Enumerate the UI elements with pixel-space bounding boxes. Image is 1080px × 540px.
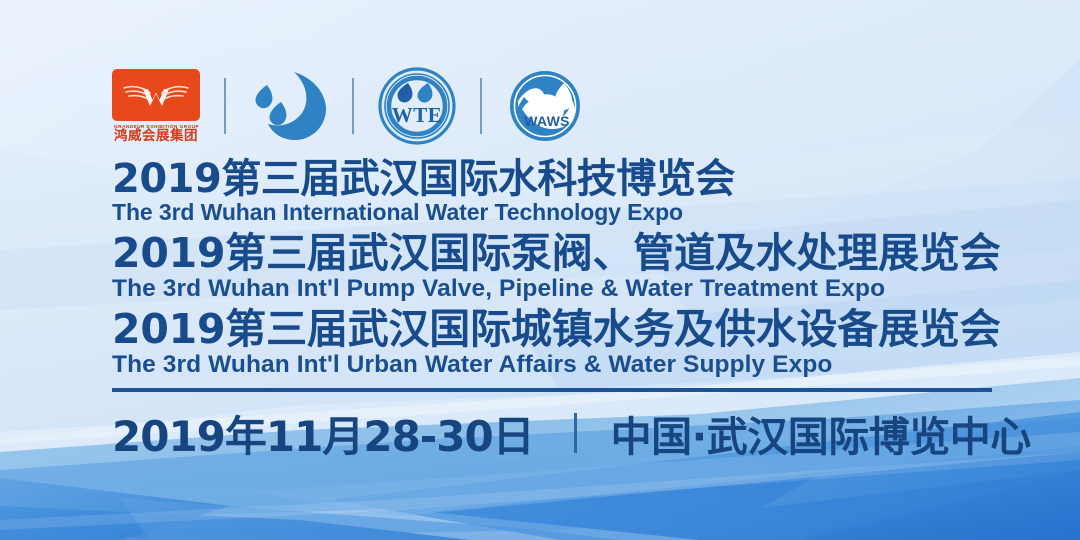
title-2-english: The 3rd Wuhan Int'l Pump Valve, Pipeline… — [112, 275, 992, 302]
wte-label: WTE — [392, 103, 443, 127]
title-group-pump-valve: 2019第三届武汉国际泵阀、管道及水处理展览会 The 3rd Wuhan In… — [112, 232, 992, 302]
w-wings-icon — [119, 75, 193, 115]
expo-banner: GRANDEUR EXHIBITION GROUP 鸿威会展集团 — [0, 0, 1080, 540]
event-date: 2019年11月28-30日 — [112, 403, 534, 464]
wte-circle-icon: WTE — [378, 67, 456, 145]
event-venue: 中国·武汉国际博览中心 — [611, 403, 1031, 463]
logo-grandeur-exhibition-group[interactable]: GRANDEUR EXHIBITION GROUP 鸿威会展集团 — [112, 69, 200, 144]
logo-divider-2 — [352, 78, 354, 134]
title-2-chinese: 2019第三届武汉国际泵阀、管道及水处理展览会 — [112, 232, 992, 275]
title-3-chinese: 2019第三届武汉国际城镇水务及供水设备展览会 — [112, 308, 992, 351]
title-3-english: The 3rd Wuhan Int'l Urban Water Affairs … — [112, 351, 992, 378]
horizontal-divider — [112, 388, 992, 392]
title-1-english: The 3rd Wuhan International Water Techno… — [112, 200, 992, 226]
title-block: 2019第三届武汉国际水科技博览会 The 3rd Wuhan Internat… — [112, 158, 992, 464]
droplet-circle-icon — [250, 68, 328, 144]
title-group-water-technology: 2019第三届武汉国际水科技博览会 The 3rd Wuhan Internat… — [112, 158, 992, 226]
logo-water-droplet[interactable] — [250, 68, 328, 144]
grandeur-chinese-name: 鸿威会展集团 — [114, 129, 198, 144]
title-1-chinese: 2019第三届武汉国际水科技博览会 — [112, 158, 992, 200]
logo-waws[interactable]: WAWS — [506, 67, 584, 145]
logo-wte[interactable]: WTE — [378, 67, 456, 145]
grandeur-logo-box — [112, 69, 200, 121]
waws-label: WAWS — [524, 113, 570, 129]
grandeur-english-name: GRANDEUR EXHIBITION GROUP — [113, 124, 198, 129]
logo-divider-3 — [480, 78, 482, 134]
footer-info: 2019年11月28-30日 中国·武汉国际博览中心 — [112, 403, 992, 464]
logo-strip: GRANDEUR EXHIBITION GROUP 鸿威会展集团 — [112, 66, 584, 146]
title-group-urban-water: 2019第三届武汉国际城镇水务及供水设备展览会 The 3rd Wuhan In… — [112, 308, 992, 378]
waws-circle-icon: WAWS — [506, 67, 584, 145]
logo-divider-1 — [224, 78, 226, 134]
footer-separator — [574, 413, 577, 453]
